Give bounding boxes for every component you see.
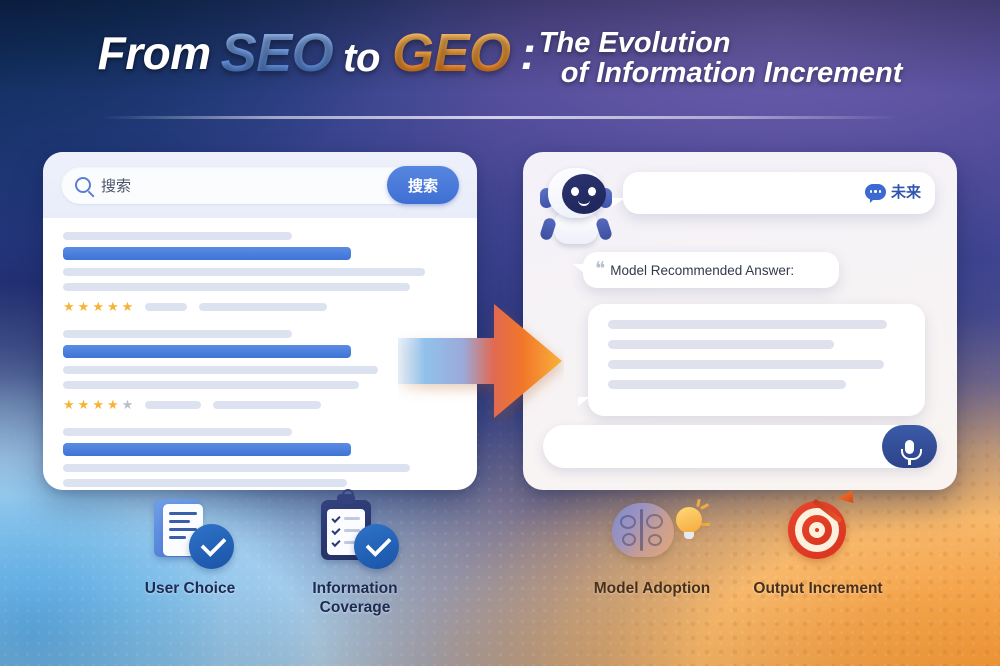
result-meta-line bbox=[63, 330, 292, 338]
star-icon: ★ bbox=[78, 398, 90, 411]
brain-icon bbox=[612, 503, 674, 557]
rating-chip bbox=[199, 303, 327, 311]
brain-bulb-icon bbox=[604, 497, 700, 571]
future-badge-label: 未来 bbox=[891, 181, 921, 202]
title-subtitle: The Evolution of Information Increment bbox=[536, 26, 903, 89]
search-button[interactable]: 搜索 bbox=[387, 166, 459, 204]
answer-line bbox=[608, 340, 834, 349]
check-badge-icon bbox=[189, 524, 234, 569]
result-title-bar bbox=[63, 443, 351, 456]
feature-label: Model Adoption bbox=[589, 580, 715, 599]
title-divider bbox=[100, 116, 900, 119]
chat-bubble-header: 未来 bbox=[623, 172, 935, 214]
answer-line bbox=[608, 320, 887, 329]
star-icon: ★ bbox=[63, 300, 75, 313]
check-badge-icon bbox=[354, 524, 399, 569]
search-result-item[interactable]: ★ ★ ★ ★ ★ bbox=[63, 428, 457, 490]
star-icon: ★ bbox=[92, 398, 104, 411]
title-word-geo: GEO bbox=[380, 26, 521, 80]
chat-message-input[interactable] bbox=[543, 425, 937, 468]
search-header: 搜索 搜索 bbox=[43, 152, 477, 218]
target-arrow-icon bbox=[770, 497, 866, 571]
feature-information-coverage[interactable]: Information Coverage bbox=[294, 497, 416, 618]
feature-model-adoption[interactable]: Model Adoption bbox=[589, 497, 715, 599]
answer-line bbox=[608, 360, 884, 369]
recommended-answer-header: ❝ Model Recommended Answer: bbox=[583, 252, 839, 288]
microphone-button[interactable] bbox=[882, 425, 937, 468]
subtitle-line-1: The Evolution bbox=[539, 28, 903, 58]
rating-chip bbox=[213, 401, 321, 409]
robot-leg-right-icon bbox=[595, 217, 613, 242]
result-title-bar bbox=[63, 345, 351, 358]
answer-line bbox=[608, 380, 846, 389]
result-meta-line bbox=[63, 232, 292, 240]
result-snippet-line bbox=[63, 464, 410, 472]
robot-eye-icon bbox=[588, 187, 596, 196]
robot-eye-icon bbox=[571, 187, 579, 196]
future-badge: 未来 bbox=[865, 181, 921, 202]
feature-label: Output Increment bbox=[753, 580, 883, 599]
feature-label: Information Coverage bbox=[294, 580, 416, 618]
star-icon: ★ bbox=[78, 300, 90, 313]
robot-smile-icon bbox=[578, 199, 590, 206]
star-icon: ★ bbox=[122, 300, 134, 313]
target-icon bbox=[788, 501, 846, 559]
result-snippet-line bbox=[63, 283, 410, 291]
search-input-value: 搜索 bbox=[101, 175, 131, 196]
ai-chat-panel: 未来 ❝ Model Recommended Answer: bbox=[523, 152, 957, 490]
robot-mascot-icon bbox=[540, 166, 612, 250]
feature-label-line-1: Information bbox=[294, 580, 416, 599]
star-icon: ★ bbox=[63, 398, 75, 411]
search-icon bbox=[75, 177, 91, 193]
result-title-bar bbox=[63, 247, 351, 260]
quote-mark-icon: ❝ bbox=[595, 262, 605, 277]
rating-chip bbox=[145, 401, 201, 409]
result-snippet-line bbox=[63, 366, 378, 374]
title-word-from: From bbox=[98, 26, 211, 76]
feature-output-increment[interactable]: Output Increment bbox=[753, 497, 883, 599]
document-check-icon bbox=[142, 497, 238, 571]
star-icon-empty: ★ bbox=[122, 398, 134, 411]
title-word-to: to bbox=[343, 26, 380, 78]
title-colon: : bbox=[520, 26, 535, 76]
result-snippet-line bbox=[63, 268, 425, 276]
rating-chip bbox=[145, 303, 187, 311]
robot-face-icon bbox=[562, 174, 606, 214]
microphone-icon bbox=[905, 440, 914, 454]
star-icon: ★ bbox=[107, 300, 119, 313]
result-meta-line bbox=[63, 428, 292, 436]
result-snippet-line bbox=[63, 479, 347, 487]
search-input[interactable]: 搜索 搜索 bbox=[61, 166, 459, 204]
feature-user-choice[interactable]: User Choice bbox=[129, 497, 251, 599]
star-icon: ★ bbox=[107, 398, 119, 411]
title-word-seo: SEO bbox=[211, 26, 344, 80]
chat-bubble-icon bbox=[865, 184, 886, 200]
recommended-answer-label: Model Recommended Answer: bbox=[610, 263, 794, 278]
subtitle-line-2: of Information Increment bbox=[539, 58, 903, 88]
poster-canvas: From SEO to GEO : The Evolution of Infor… bbox=[0, 0, 1000, 666]
transition-arrow bbox=[398, 296, 564, 426]
answer-bubble bbox=[588, 304, 925, 416]
poster-title: From SEO to GEO : The Evolution of Infor… bbox=[0, 26, 1000, 89]
clipboard-check-icon bbox=[307, 497, 403, 571]
result-snippet-line bbox=[63, 381, 359, 389]
feature-label-line-2: Coverage bbox=[294, 599, 416, 618]
feature-label: User Choice bbox=[129, 580, 251, 599]
robot-head-icon bbox=[548, 168, 604, 218]
star-icon: ★ bbox=[92, 300, 104, 313]
lightbulb-icon bbox=[676, 507, 702, 533]
